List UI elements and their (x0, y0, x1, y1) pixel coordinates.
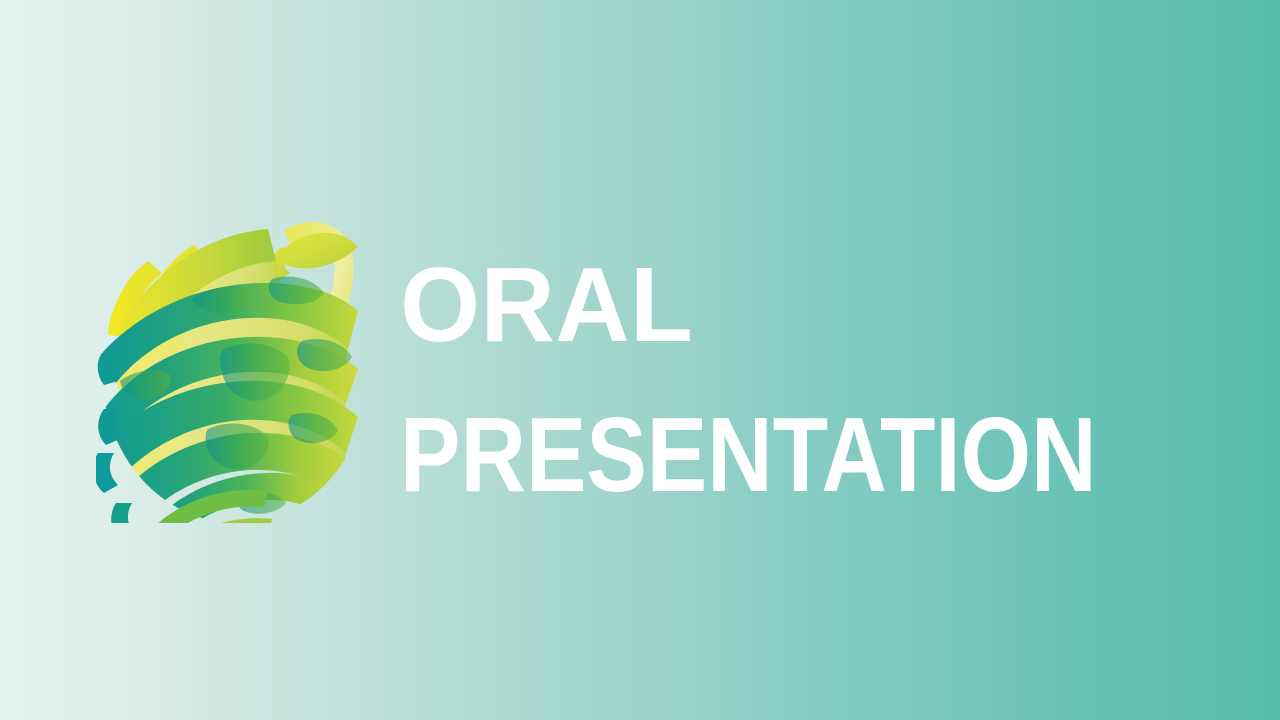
title-line-presentation: PRESENTATION (400, 402, 1097, 508)
title-block: ORAL PRESENTATION (400, 236, 1200, 502)
landmass-northeast (269, 277, 324, 305)
ribbon-end-3 (96, 453, 118, 493)
globe-bands-group (96, 229, 358, 523)
ribbon-end-4 (111, 503, 136, 523)
title-slide: ORAL PRESENTATION (0, 0, 1280, 720)
globe-logo-svg (96, 203, 376, 523)
spiral-ribbon-globe-logo (96, 203, 376, 523)
title-line-oral: ORAL (400, 252, 693, 358)
